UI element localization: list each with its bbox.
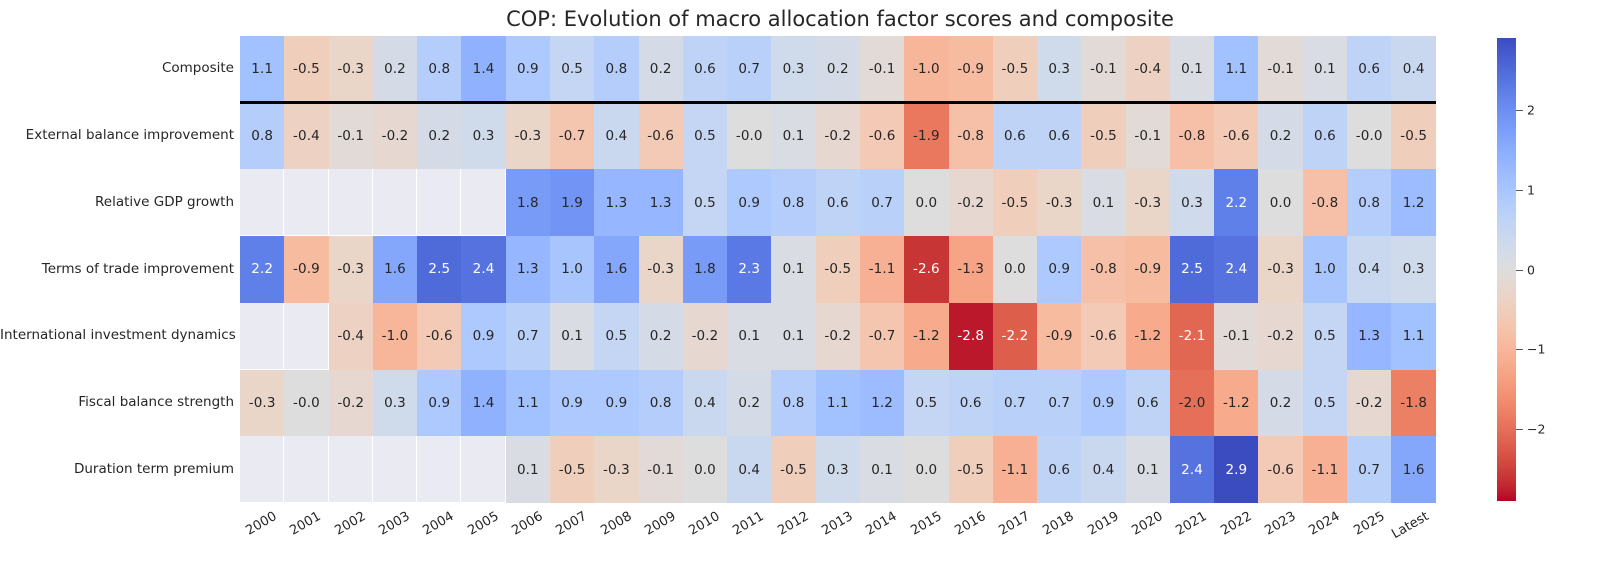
heatmap-cell: 0.1 xyxy=(860,436,904,503)
colorbar-tick xyxy=(1516,190,1523,191)
heatmap-cell: -0.5 xyxy=(993,169,1037,236)
heatmap-cell: 0.6 xyxy=(949,370,993,437)
heatmap-cell: -0.3 xyxy=(1258,236,1302,303)
heatmap-cell: 1.2 xyxy=(1391,169,1436,236)
heatmap-cell: 0.9 xyxy=(417,370,461,437)
heatmap-cell: -1.2 xyxy=(904,303,948,370)
heatmap-row: 1.81.91.31.30.50.90.80.60.70.0-0.2-0.5-0… xyxy=(240,169,1436,236)
x-axis-tick-labels: 2000200120022003200420052006200720082009… xyxy=(240,505,1436,584)
heatmap-cell: 2.5 xyxy=(417,236,461,303)
heatmap-cell-empty xyxy=(284,169,328,236)
heatmap-cell: 0.3 xyxy=(1170,169,1214,236)
heatmap-cell: -1.0 xyxy=(373,303,417,370)
heatmap-cell: -1.3 xyxy=(949,236,993,303)
heatmap-cell: 0.9 xyxy=(594,370,638,437)
heatmap-cell: 1.3 xyxy=(594,169,638,236)
row-label-international-investment-dynamics: International investment dynamics xyxy=(0,327,234,343)
heatmap-cell: 0.1 xyxy=(727,303,771,370)
heatmap-cell: 0.2 xyxy=(727,370,771,437)
heatmap-cell: 0.4 xyxy=(594,103,638,170)
heatmap-cell: 0.7 xyxy=(506,303,550,370)
heatmap-cell: -0.3 xyxy=(240,370,284,437)
heatmap-cell: -0.5 xyxy=(1391,103,1436,170)
heatmap-cell: -0.2 xyxy=(1347,370,1391,437)
heatmap-cell: 2.2 xyxy=(240,236,284,303)
heatmap-cell: -0.9 xyxy=(949,36,993,103)
heatmap-cell: -1.0 xyxy=(904,36,948,103)
heatmap-cell: 0.1 xyxy=(1170,36,1214,103)
heatmap-cell: -2.8 xyxy=(949,303,993,370)
heatmap-cell-empty xyxy=(240,169,284,236)
heatmap-cell: -0.8 xyxy=(1303,169,1347,236)
heatmap-cell-empty xyxy=(417,436,461,503)
heatmap-cell: -2.2 xyxy=(993,303,1037,370)
heatmap-cell: -0.6 xyxy=(1081,303,1125,370)
heatmap-cell: 1.6 xyxy=(373,236,417,303)
heatmap-cell: 1.6 xyxy=(1391,436,1436,503)
heatmap-row: -0.4-1.0-0.60.90.70.10.50.2-0.20.10.1-0.… xyxy=(240,303,1436,370)
row-label-fiscal-balance-strength: Fiscal balance strength xyxy=(0,394,234,410)
heatmap-cell-empty xyxy=(329,436,373,503)
heatmap-cell: 0.3 xyxy=(816,436,860,503)
colorbar-tick-label: −1 xyxy=(1527,342,1545,357)
heatmap-cell: -0.5 xyxy=(550,436,594,503)
heatmap-cell: 0.7 xyxy=(993,370,1037,437)
heatmap-cell: 1.6 xyxy=(594,236,638,303)
heatmap-cell: 0.9 xyxy=(1037,236,1081,303)
heatmap-cell: 0.9 xyxy=(1081,370,1125,437)
heatmap-cell: 1.1 xyxy=(240,36,284,103)
heatmap-cell: 0.4 xyxy=(1347,236,1391,303)
heatmap-cell-empty xyxy=(240,436,284,503)
row-label-axis: CompositeExternal balance improvementRel… xyxy=(0,36,234,503)
heatmap-cell: -2.6 xyxy=(904,236,948,303)
heatmap-cell: -0.9 xyxy=(284,236,328,303)
heatmap-cell: 0.6 xyxy=(1347,36,1391,103)
heatmap-cell: -0.1 xyxy=(329,103,373,170)
heatmap-cell: 2.4 xyxy=(461,236,505,303)
heatmap-cell: 2.2 xyxy=(1214,169,1258,236)
heatmap-cell: 0.1 xyxy=(771,236,815,303)
colorbar: 210−1−2 xyxy=(1497,38,1516,501)
heatmap-cell: 2.4 xyxy=(1170,436,1214,503)
heatmap-cell: -0.8 xyxy=(1081,236,1125,303)
colorbar-tick xyxy=(1516,349,1523,350)
heatmap-cell: 0.5 xyxy=(550,36,594,103)
row-label-terms-of-trade-improvement: Terms of trade improvement xyxy=(0,261,234,277)
colorbar-tick-label: 1 xyxy=(1527,182,1535,197)
heatmap-cell: -0.5 xyxy=(816,236,860,303)
heatmap-cell: 0.8 xyxy=(594,36,638,103)
heatmap-cell: 1.1 xyxy=(506,370,550,437)
heatmap-cell: 2.3 xyxy=(727,236,771,303)
heatmap-cell: 0.9 xyxy=(727,169,771,236)
heatmap-cell: 0.0 xyxy=(683,436,727,503)
heatmap-cell: 0.6 xyxy=(1303,103,1347,170)
heatmap-cell: 1.4 xyxy=(461,370,505,437)
composite-separator-line xyxy=(240,101,1436,104)
heatmap-cell: 0.2 xyxy=(639,303,683,370)
heatmap-cell-empty xyxy=(373,169,417,236)
heatmap-cell: 1.1 xyxy=(816,370,860,437)
heatmap-cell: 0.1 xyxy=(550,303,594,370)
heatmap-cell: -0.2 xyxy=(373,103,417,170)
heatmap-cell: -0.1 xyxy=(1081,36,1125,103)
heatmap-cell: 1.4 xyxy=(461,36,505,103)
heatmap-cell: -0.7 xyxy=(550,103,594,170)
heatmap-cell: 2.4 xyxy=(1214,236,1258,303)
heatmap-cell: 1.9 xyxy=(550,169,594,236)
heatmap-cell: 0.2 xyxy=(816,36,860,103)
heatmap-cell: 0.7 xyxy=(860,169,904,236)
heatmap-cell: 0.2 xyxy=(417,103,461,170)
heatmap-row: 0.8-0.4-0.1-0.20.20.3-0.3-0.70.4-0.60.5-… xyxy=(240,103,1436,170)
heatmap-cell: 0.5 xyxy=(1303,303,1347,370)
heatmap-cell: 0.4 xyxy=(1081,436,1125,503)
heatmap-cell: 0.0 xyxy=(993,236,1037,303)
heatmap-cell: 1.3 xyxy=(639,169,683,236)
heatmap-cell: 0.6 xyxy=(1037,103,1081,170)
heatmap-cell-empty xyxy=(461,436,505,503)
heatmap-cell: 0.5 xyxy=(683,169,727,236)
heatmap-cell: 0.5 xyxy=(683,103,727,170)
heatmap-cell: -1.8 xyxy=(1391,370,1436,437)
heatmap-cell: -2.0 xyxy=(1170,370,1214,437)
row-label-composite: Composite xyxy=(0,60,234,76)
heatmap-cell: 0.8 xyxy=(417,36,461,103)
heatmap-cell: -0.4 xyxy=(1126,36,1170,103)
heatmap-row: 2.2-0.9-0.31.62.52.41.31.01.6-0.31.82.30… xyxy=(240,236,1436,303)
heatmap-cell: 0.8 xyxy=(771,370,815,437)
heatmap-cell: 0.7 xyxy=(727,36,771,103)
heatmap-cell: -0.2 xyxy=(949,169,993,236)
heatmap-cell: 1.1 xyxy=(1214,36,1258,103)
heatmap-cell: -0.5 xyxy=(1081,103,1125,170)
heatmap-cell: 1.0 xyxy=(1303,236,1347,303)
heatmap-cell-empty xyxy=(284,303,328,370)
heatmap-cell: -0.1 xyxy=(860,36,904,103)
heatmap-cell: 0.9 xyxy=(550,370,594,437)
heatmap-cell: 1.1 xyxy=(1391,303,1436,370)
heatmap-cell: 2.5 xyxy=(1170,236,1214,303)
heatmap-cell-empty xyxy=(373,436,417,503)
colorbar-tick-label: 2 xyxy=(1527,102,1535,117)
heatmap-cell: 0.6 xyxy=(993,103,1037,170)
heatmap-cell: -0.5 xyxy=(949,436,993,503)
heatmap-cell: 0.1 xyxy=(1126,436,1170,503)
heatmap-cell-empty xyxy=(240,303,284,370)
row-label-duration-term-premium: Duration term premium xyxy=(0,461,234,477)
heatmap-cell: 0.6 xyxy=(1126,370,1170,437)
heatmap-cell: -0.3 xyxy=(329,36,373,103)
heatmap-cell: -0.3 xyxy=(594,436,638,503)
heatmap-cell: 2.9 xyxy=(1214,436,1258,503)
heatmap-cell: -0.0 xyxy=(284,370,328,437)
heatmap-cell: -0.3 xyxy=(329,236,373,303)
heatmap-cell: 0.3 xyxy=(373,370,417,437)
colorbar-tick xyxy=(1516,270,1523,271)
heatmap-cell: 1.2 xyxy=(860,370,904,437)
heatmap-cell: 0.8 xyxy=(240,103,284,170)
heatmap-cell: -1.1 xyxy=(860,236,904,303)
heatmap-cell: -1.1 xyxy=(1303,436,1347,503)
heatmap-cell: 0.9 xyxy=(461,303,505,370)
heatmap-cell: -0.6 xyxy=(860,103,904,170)
heatmap-cell: -1.9 xyxy=(904,103,948,170)
heatmap-cell: -0.6 xyxy=(1258,436,1302,503)
heatmap-cell: 0.4 xyxy=(1391,36,1436,103)
heatmap-cell: 0.8 xyxy=(771,169,815,236)
heatmap-cell: 0.4 xyxy=(727,436,771,503)
heatmap-cell: 0.4 xyxy=(683,370,727,437)
heatmap-cell: 0.1 xyxy=(771,303,815,370)
row-label-relative-gdp-growth: Relative GDP growth xyxy=(0,194,234,210)
heatmap-cell: 0.0 xyxy=(1258,169,1302,236)
heatmap-cell: -0.1 xyxy=(1258,36,1302,103)
heatmap-cell: -0.0 xyxy=(1347,103,1391,170)
heatmap-cell: 0.0 xyxy=(904,169,948,236)
heatmap-cell: -0.3 xyxy=(1126,169,1170,236)
heatmap-cell: 0.1 xyxy=(1303,36,1347,103)
heatmap-cell: -0.9 xyxy=(1126,236,1170,303)
colorbar-gradient xyxy=(1497,38,1516,501)
heatmap-cell: 0.5 xyxy=(904,370,948,437)
heatmap-cell: 0.1 xyxy=(771,103,815,170)
heatmap-cell: 0.1 xyxy=(506,436,550,503)
heatmap-cell: -2.1 xyxy=(1170,303,1214,370)
heatmap-cell: -1.1 xyxy=(993,436,1037,503)
heatmap-cell: -0.9 xyxy=(1037,303,1081,370)
heatmap-cell: -0.6 xyxy=(639,103,683,170)
heatmap-cell: -0.2 xyxy=(816,303,860,370)
heatmap-cell: -0.6 xyxy=(417,303,461,370)
row-label-external-balance-improvement: External balance improvement xyxy=(0,127,234,143)
heatmap-cell-empty xyxy=(461,169,505,236)
heatmap-cell: 0.0 xyxy=(904,436,948,503)
heatmap-cell: 0.9 xyxy=(506,36,550,103)
heatmap-cell: -0.4 xyxy=(284,103,328,170)
heatmap-cell: 1.3 xyxy=(506,236,550,303)
heatmap-cell: -0.4 xyxy=(329,303,373,370)
heatmap-cell: 0.8 xyxy=(639,370,683,437)
heatmap-cell: -0.1 xyxy=(639,436,683,503)
heatmap-row: 1.1-0.5-0.30.20.81.40.90.50.80.20.60.70.… xyxy=(240,36,1436,103)
heatmap-table: 1.1-0.5-0.30.20.81.40.90.50.80.20.60.70.… xyxy=(240,36,1436,503)
heatmap-cell: -0.7 xyxy=(860,303,904,370)
heatmap-cell: -0.5 xyxy=(284,36,328,103)
heatmap-cell: -1.2 xyxy=(1126,303,1170,370)
heatmap-cell: 0.2 xyxy=(639,36,683,103)
colorbar-tick-label: −2 xyxy=(1527,422,1545,437)
heatmap-cell: 0.3 xyxy=(1037,36,1081,103)
heatmap-cell: 0.7 xyxy=(1347,436,1391,503)
heatmap-cell: -0.6 xyxy=(1214,103,1258,170)
heatmap-cell: 0.5 xyxy=(1303,370,1347,437)
heatmap-cell: 0.5 xyxy=(594,303,638,370)
heatmap-cell: 0.8 xyxy=(1347,169,1391,236)
heatmap-cell: 0.7 xyxy=(1037,370,1081,437)
heatmap-cell: -0.3 xyxy=(1037,169,1081,236)
heatmap-cell: 1.3 xyxy=(1347,303,1391,370)
heatmap-cell: -0.3 xyxy=(506,103,550,170)
page-title: COP: Evolution of macro allocation facto… xyxy=(240,2,1440,36)
heatmap-cell: -0.5 xyxy=(993,36,1037,103)
heatmap-cell: -0.0 xyxy=(727,103,771,170)
heatmap-cell: 0.2 xyxy=(1258,370,1302,437)
heatmap-cell: -0.8 xyxy=(949,103,993,170)
heatmap-cell: 0.6 xyxy=(683,36,727,103)
heatmap-cell: 0.3 xyxy=(461,103,505,170)
heatmap-cell: 0.3 xyxy=(1391,236,1436,303)
heatmap-row: -0.3-0.0-0.20.30.91.41.10.90.90.80.40.20… xyxy=(240,370,1436,437)
heatmap-cell-empty xyxy=(329,169,373,236)
heatmap-cell: -0.1 xyxy=(1214,303,1258,370)
heatmap-cell: -0.2 xyxy=(329,370,373,437)
heatmap-row: 0.1-0.5-0.3-0.10.00.4-0.50.30.10.0-0.5-1… xyxy=(240,436,1436,503)
heatmap-cell: 0.2 xyxy=(373,36,417,103)
heatmap-cell-empty xyxy=(417,169,461,236)
heatmap-figure: COP: Evolution of macro allocation facto… xyxy=(0,0,1610,584)
heatmap-cell: 1.0 xyxy=(550,236,594,303)
heatmap-cell-empty xyxy=(284,436,328,503)
heatmap-cell: -0.1 xyxy=(1126,103,1170,170)
heatmap-cell: -0.2 xyxy=(1258,303,1302,370)
heatmap-cell: 0.6 xyxy=(1037,436,1081,503)
heatmap-cell: -0.8 xyxy=(1170,103,1214,170)
heatmap-cell: 0.2 xyxy=(1258,103,1302,170)
heatmap-cell: -0.2 xyxy=(816,103,860,170)
colorbar-tick-label: 0 xyxy=(1527,262,1535,277)
heatmap-cell: -1.2 xyxy=(1214,370,1258,437)
heatmap-cell: 1.8 xyxy=(506,169,550,236)
heatmap-cell: 1.8 xyxy=(683,236,727,303)
heatmap-cell: -0.5 xyxy=(771,436,815,503)
heatmap-grid: 1.1-0.5-0.30.20.81.40.90.50.80.20.60.70.… xyxy=(240,36,1436,503)
heatmap-cell: -0.3 xyxy=(639,236,683,303)
heatmap-cell: -0.2 xyxy=(683,303,727,370)
heatmap-cell: 0.6 xyxy=(816,169,860,236)
heatmap-cell: 0.1 xyxy=(1081,169,1125,236)
heatmap-cell: 0.3 xyxy=(771,36,815,103)
colorbar-tick xyxy=(1516,110,1523,111)
colorbar-tick xyxy=(1516,429,1523,430)
